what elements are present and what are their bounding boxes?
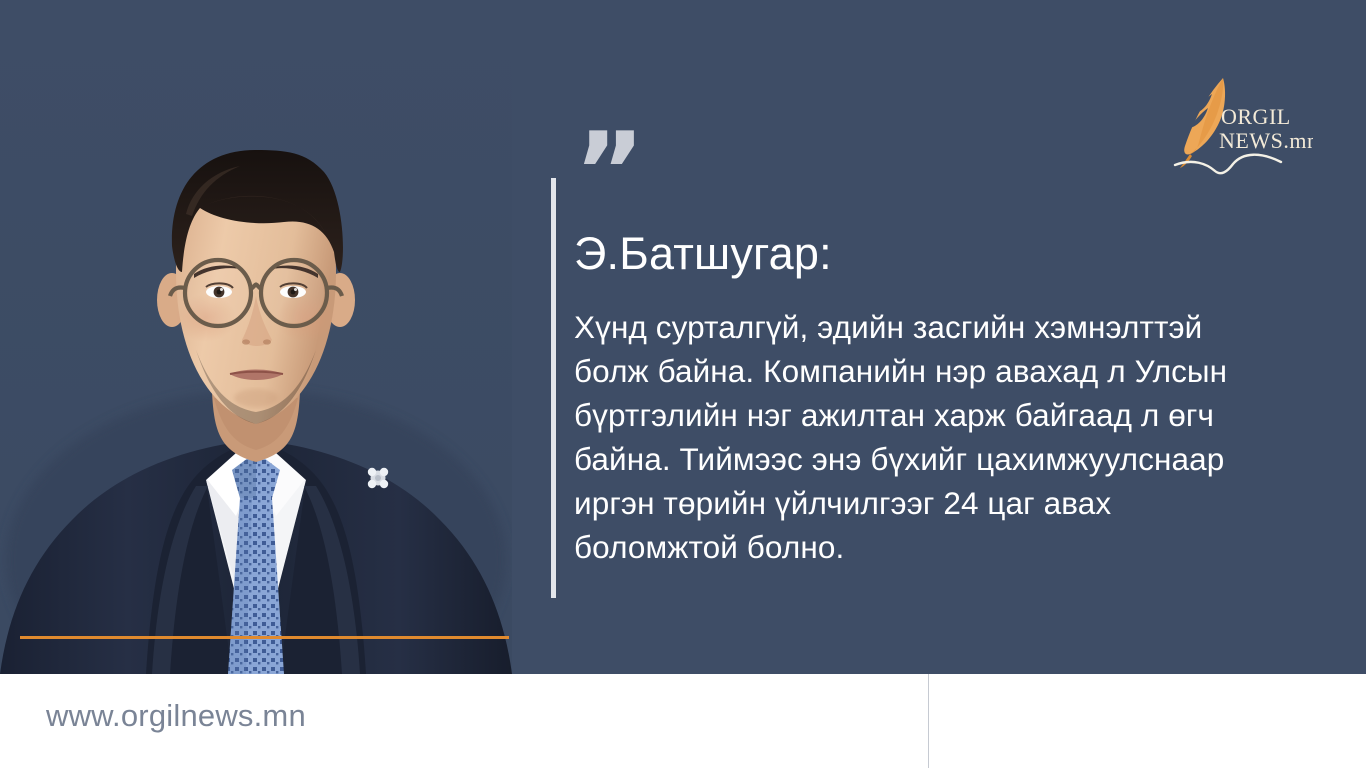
- orgil-news-logo[interactable]: ORGIL NEWS.mn: [1163, 72, 1313, 176]
- footer: www.orgilnews.mn: [0, 674, 1366, 768]
- lapel-pin: [368, 468, 388, 488]
- footer-divider: [928, 674, 929, 768]
- orange-accent-rule: [20, 636, 509, 639]
- logo-line2: NEWS.mn: [1219, 128, 1313, 153]
- website-url[interactable]: www.orgilnews.mn: [46, 698, 306, 734]
- speaker-name: Э.Батшугар:: [574, 228, 832, 280]
- portrait-image: [0, 0, 512, 674]
- logo-line1: ORGIL: [1221, 104, 1291, 129]
- speaker-portrait: [0, 0, 512, 674]
- quote-text: Хүнд сурталгүй, эдийн засгийн хэмнэлттэй…: [574, 305, 1264, 569]
- quote-accent-bar: [551, 178, 556, 598]
- quote-card: ” Э.Батшугар: Хүнд сурталгүй, эдийн засг…: [0, 0, 1366, 768]
- feather-quill-icon: [1180, 78, 1225, 168]
- quotation-mark-icon: ”: [574, 119, 647, 227]
